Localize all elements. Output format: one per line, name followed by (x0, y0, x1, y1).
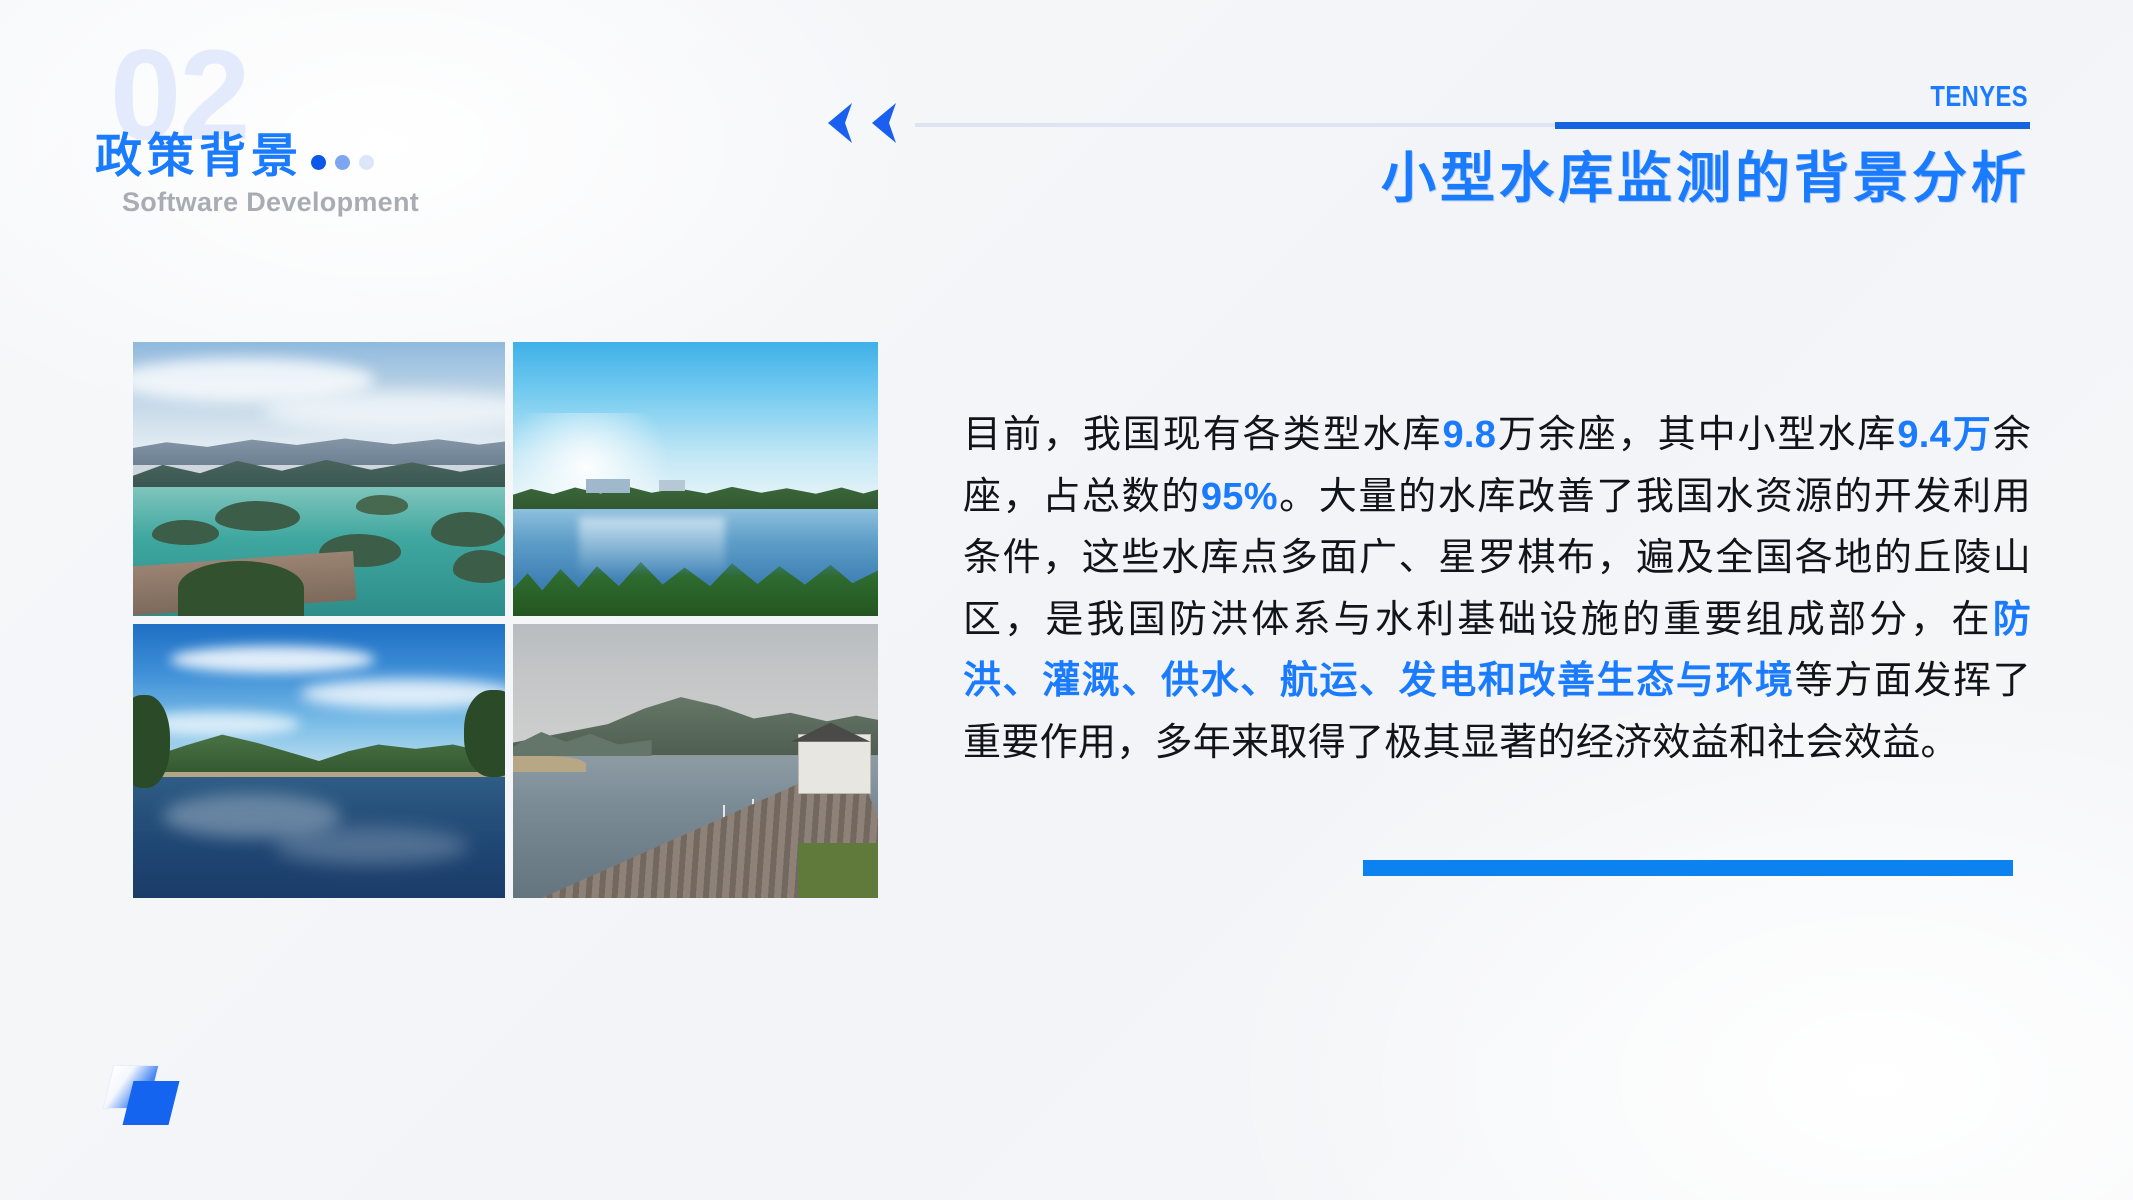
section-title-row: 政策背景 (95, 132, 392, 179)
header-rule-light (915, 123, 1555, 127)
photo-hills-reflection (133, 624, 505, 898)
dot-faint-icon (359, 155, 374, 170)
body-highlight-run: 9.4万 (1897, 414, 1992, 456)
section-title-dots (311, 155, 374, 170)
header-rule-solid (1555, 122, 2030, 129)
page-title: 小型水库监测的背景分析 (1381, 147, 2030, 210)
dot-strong-icon (311, 155, 326, 170)
body-paragraph: 目前，我国现有各类型水库9.8万余座，其中小型水库9.4万余座，占总数的95%。… (963, 405, 2031, 774)
photo-lake-treeline (513, 342, 878, 616)
paragraph-underline-bar (1363, 860, 2013, 876)
brand-logotype: TENYES (1930, 81, 2028, 114)
body-text-run: 万余座，其中小型水库 (1496, 414, 1897, 456)
slide-root: 02 政策背景 Software Development TENYES 小型水库… (0, 0, 2133, 1200)
section-subtitle: Software Development (122, 187, 419, 218)
body-text-run: 目前，我国现有各类型水库 (963, 414, 1442, 456)
photo-aerial-reservoir (133, 342, 505, 616)
dot-medium-icon (335, 155, 350, 170)
body-highlight-run: 95% (1201, 476, 1278, 518)
photo-dam-pavilion (513, 624, 878, 898)
header-rule (915, 122, 2030, 128)
reservoir-photo-grid (133, 342, 878, 902)
tenyes-logo-mark (108, 1065, 180, 1127)
logo-square-blue (123, 1081, 180, 1125)
chevron-double-left-icon[interactable] (818, 100, 904, 146)
section-heading: 02 政策背景 Software Development (95, 36, 392, 114)
body-highlight-run: 9.8 (1442, 414, 1496, 456)
section-title: 政策背景 (95, 132, 303, 179)
